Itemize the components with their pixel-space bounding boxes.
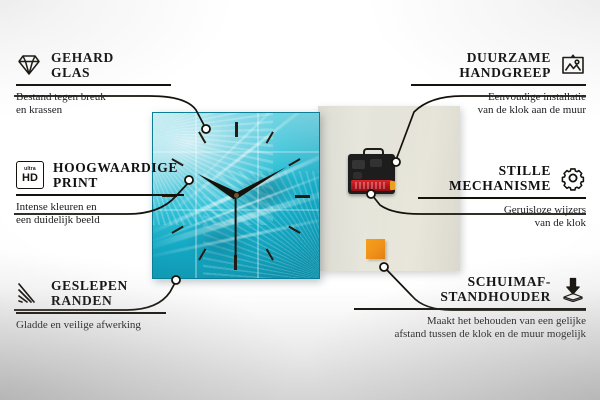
battery-positive-cap: [390, 181, 395, 190]
feature-rule: [411, 84, 586, 86]
clock-tick-mark: [235, 122, 238, 137]
feature-duurzame-handgreep: DUURZAME HANDGREEP Eenvoudige installati…: [401, 50, 586, 117]
feature-geslepen-randen: GESLEPEN RANDEN Gladde en veilige afwerk…: [16, 278, 184, 332]
gear-icon: [560, 165, 586, 191]
hand-center-cap: [234, 193, 239, 198]
feature-description: Maakt het behouden van een gelijke afsta…: [346, 315, 586, 341]
spacer-arrow-icon: [560, 276, 586, 302]
battery-label: [355, 182, 386, 189]
movement-detail: [352, 160, 365, 169]
hanging-hook-icon: [363, 148, 384, 158]
feature-title: STILLE MECHANISME: [449, 163, 551, 193]
feature-rule: [354, 308, 586, 310]
feature-title: GEHARD GLAS: [51, 50, 114, 80]
infographic-canvas: GEHARD GLAS Bestand tegen breuk en krass…: [0, 0, 600, 400]
clock-movement: [348, 154, 395, 194]
feature-title: DUURZAME HANDGREEP: [459, 50, 551, 80]
foam-spacer-pad: [366, 239, 385, 259]
ultra-hd-main-text: HD: [22, 173, 38, 184]
feature-hoogwaardige-print: ultra HD HOOGWAARDIGE PRINT Intense kleu…: [16, 160, 201, 227]
diamond-icon: [16, 52, 42, 78]
feature-rule: [16, 84, 171, 86]
feature-header: DUURZAME HANDGREEP: [401, 50, 586, 80]
feature-schuimafstandhouder: SCHUIMAF- STANDHOUDER Maakt het behouden…: [346, 274, 586, 341]
clock-tick-mark: [288, 225, 300, 233]
feature-header: ultra HD HOOGWAARDIGE PRINT: [16, 160, 201, 190]
feature-rule: [16, 312, 166, 314]
second-hand: [235, 196, 237, 258]
feature-stille-mechanisme: STILLE MECHANISME Geruisloze wijzers van…: [406, 163, 586, 230]
feature-header: SCHUIMAF- STANDHOUDER: [346, 274, 586, 304]
feature-rule: [16, 194, 184, 196]
feature-header: GESLEPEN RANDEN: [16, 278, 184, 308]
beveled-edge-icon: [16, 280, 42, 306]
feature-title: HOOGWAARDIGE PRINT: [53, 160, 178, 190]
clock-tick-mark: [266, 248, 274, 260]
feature-description: Bestand tegen breuk en krassen: [16, 91, 191, 117]
aa-battery: [351, 180, 393, 191]
ultra-hd-top-text: ultra: [24, 167, 36, 172]
feature-description: Gladde en veilige afwerking: [16, 319, 184, 332]
feature-rule: [418, 197, 586, 199]
clock-tick-mark: [266, 131, 274, 143]
ultra-hd-icon: ultra HD: [16, 161, 44, 189]
feature-description: Intense kleuren en een duidelijk beeld: [16, 201, 201, 227]
feature-gehard-glas: GEHARD GLAS Bestand tegen breuk en krass…: [16, 50, 191, 117]
clock-tick-mark: [198, 131, 206, 143]
feature-title: SCHUIMAF- STANDHOUDER: [440, 274, 551, 304]
feature-description: Geruisloze wijzers van de klok: [406, 204, 586, 230]
feature-header: GEHARD GLAS: [16, 50, 191, 80]
clock-tick-mark: [295, 194, 310, 197]
clock-tick: [236, 195, 310, 197]
movement-detail: [370, 159, 382, 167]
clock-tick-mark: [198, 248, 206, 260]
clock-tick: [235, 122, 237, 196]
clock-tick-mark: [288, 158, 300, 166]
movement-detail: [353, 172, 362, 179]
picture-frame-icon: [560, 52, 586, 78]
feature-description: Eenvoudige installatie van de klok aan d…: [401, 91, 586, 117]
feature-header: STILLE MECHANISME: [406, 163, 586, 193]
feature-title: GESLEPEN RANDEN: [51, 278, 128, 308]
